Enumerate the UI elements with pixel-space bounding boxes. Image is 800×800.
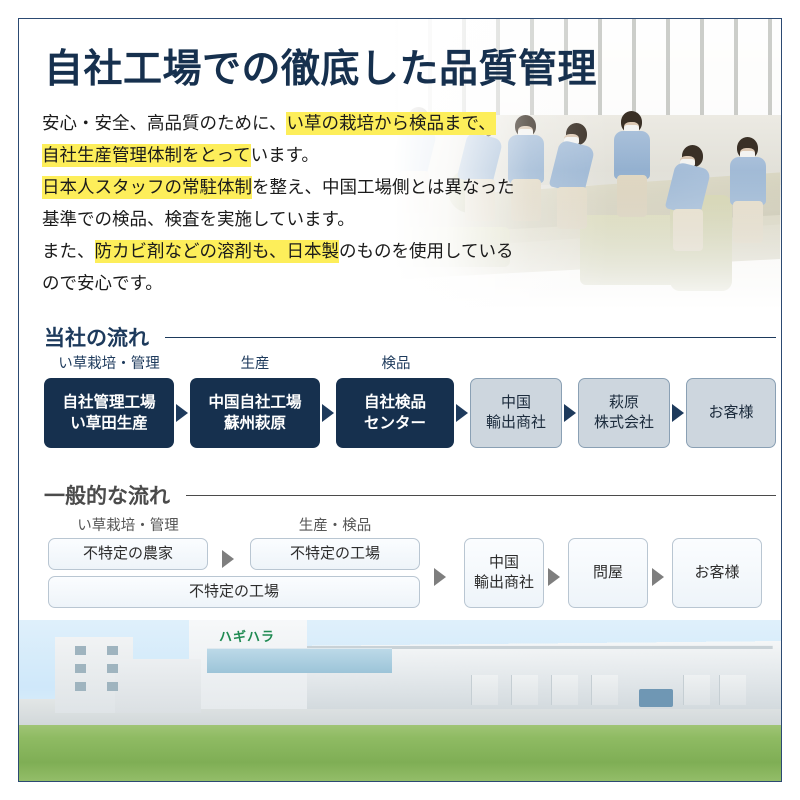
flow-box: 不特定の工場 [48,576,420,608]
flow-box-line-1: 不特定の工場 [189,582,279,602]
flow-column-label: い草栽培・管理 [48,514,208,535]
flow-arrow-icon [434,568,446,586]
flow-box: 不特定の農家 [48,538,208,570]
general-flow-diagram: い草栽培・管理生産・検品不特定の農家不特定の工場不特定の工場中国輸出商社問屋お客… [0,0,800,800]
flow-arrow-icon [222,550,234,568]
flow-box: お客様 [672,538,762,608]
flow-box: 不特定の工場 [250,538,420,570]
flow-box-line-1: 中国 [489,553,519,573]
flow-box-line-2: 輸出商社 [474,573,534,593]
infographic-page: 自社工場での徹底した品質管理 安心・安全、高品質のために、い草の栽培から検品まで… [0,0,800,800]
flow-arrow-icon [548,568,560,586]
flow-box-line-1: 不特定の工場 [290,544,380,564]
flow-box: 中国輸出商社 [464,538,544,608]
flow-column-label: 生産・検品 [250,514,420,535]
flow-arrow-icon [652,568,664,586]
flow-box: 問屋 [568,538,648,608]
flow-box-line-1: お客様 [694,563,739,583]
flow-box-line-1: 問屋 [593,563,623,583]
flow-box-line-1: 不特定の農家 [83,544,173,564]
